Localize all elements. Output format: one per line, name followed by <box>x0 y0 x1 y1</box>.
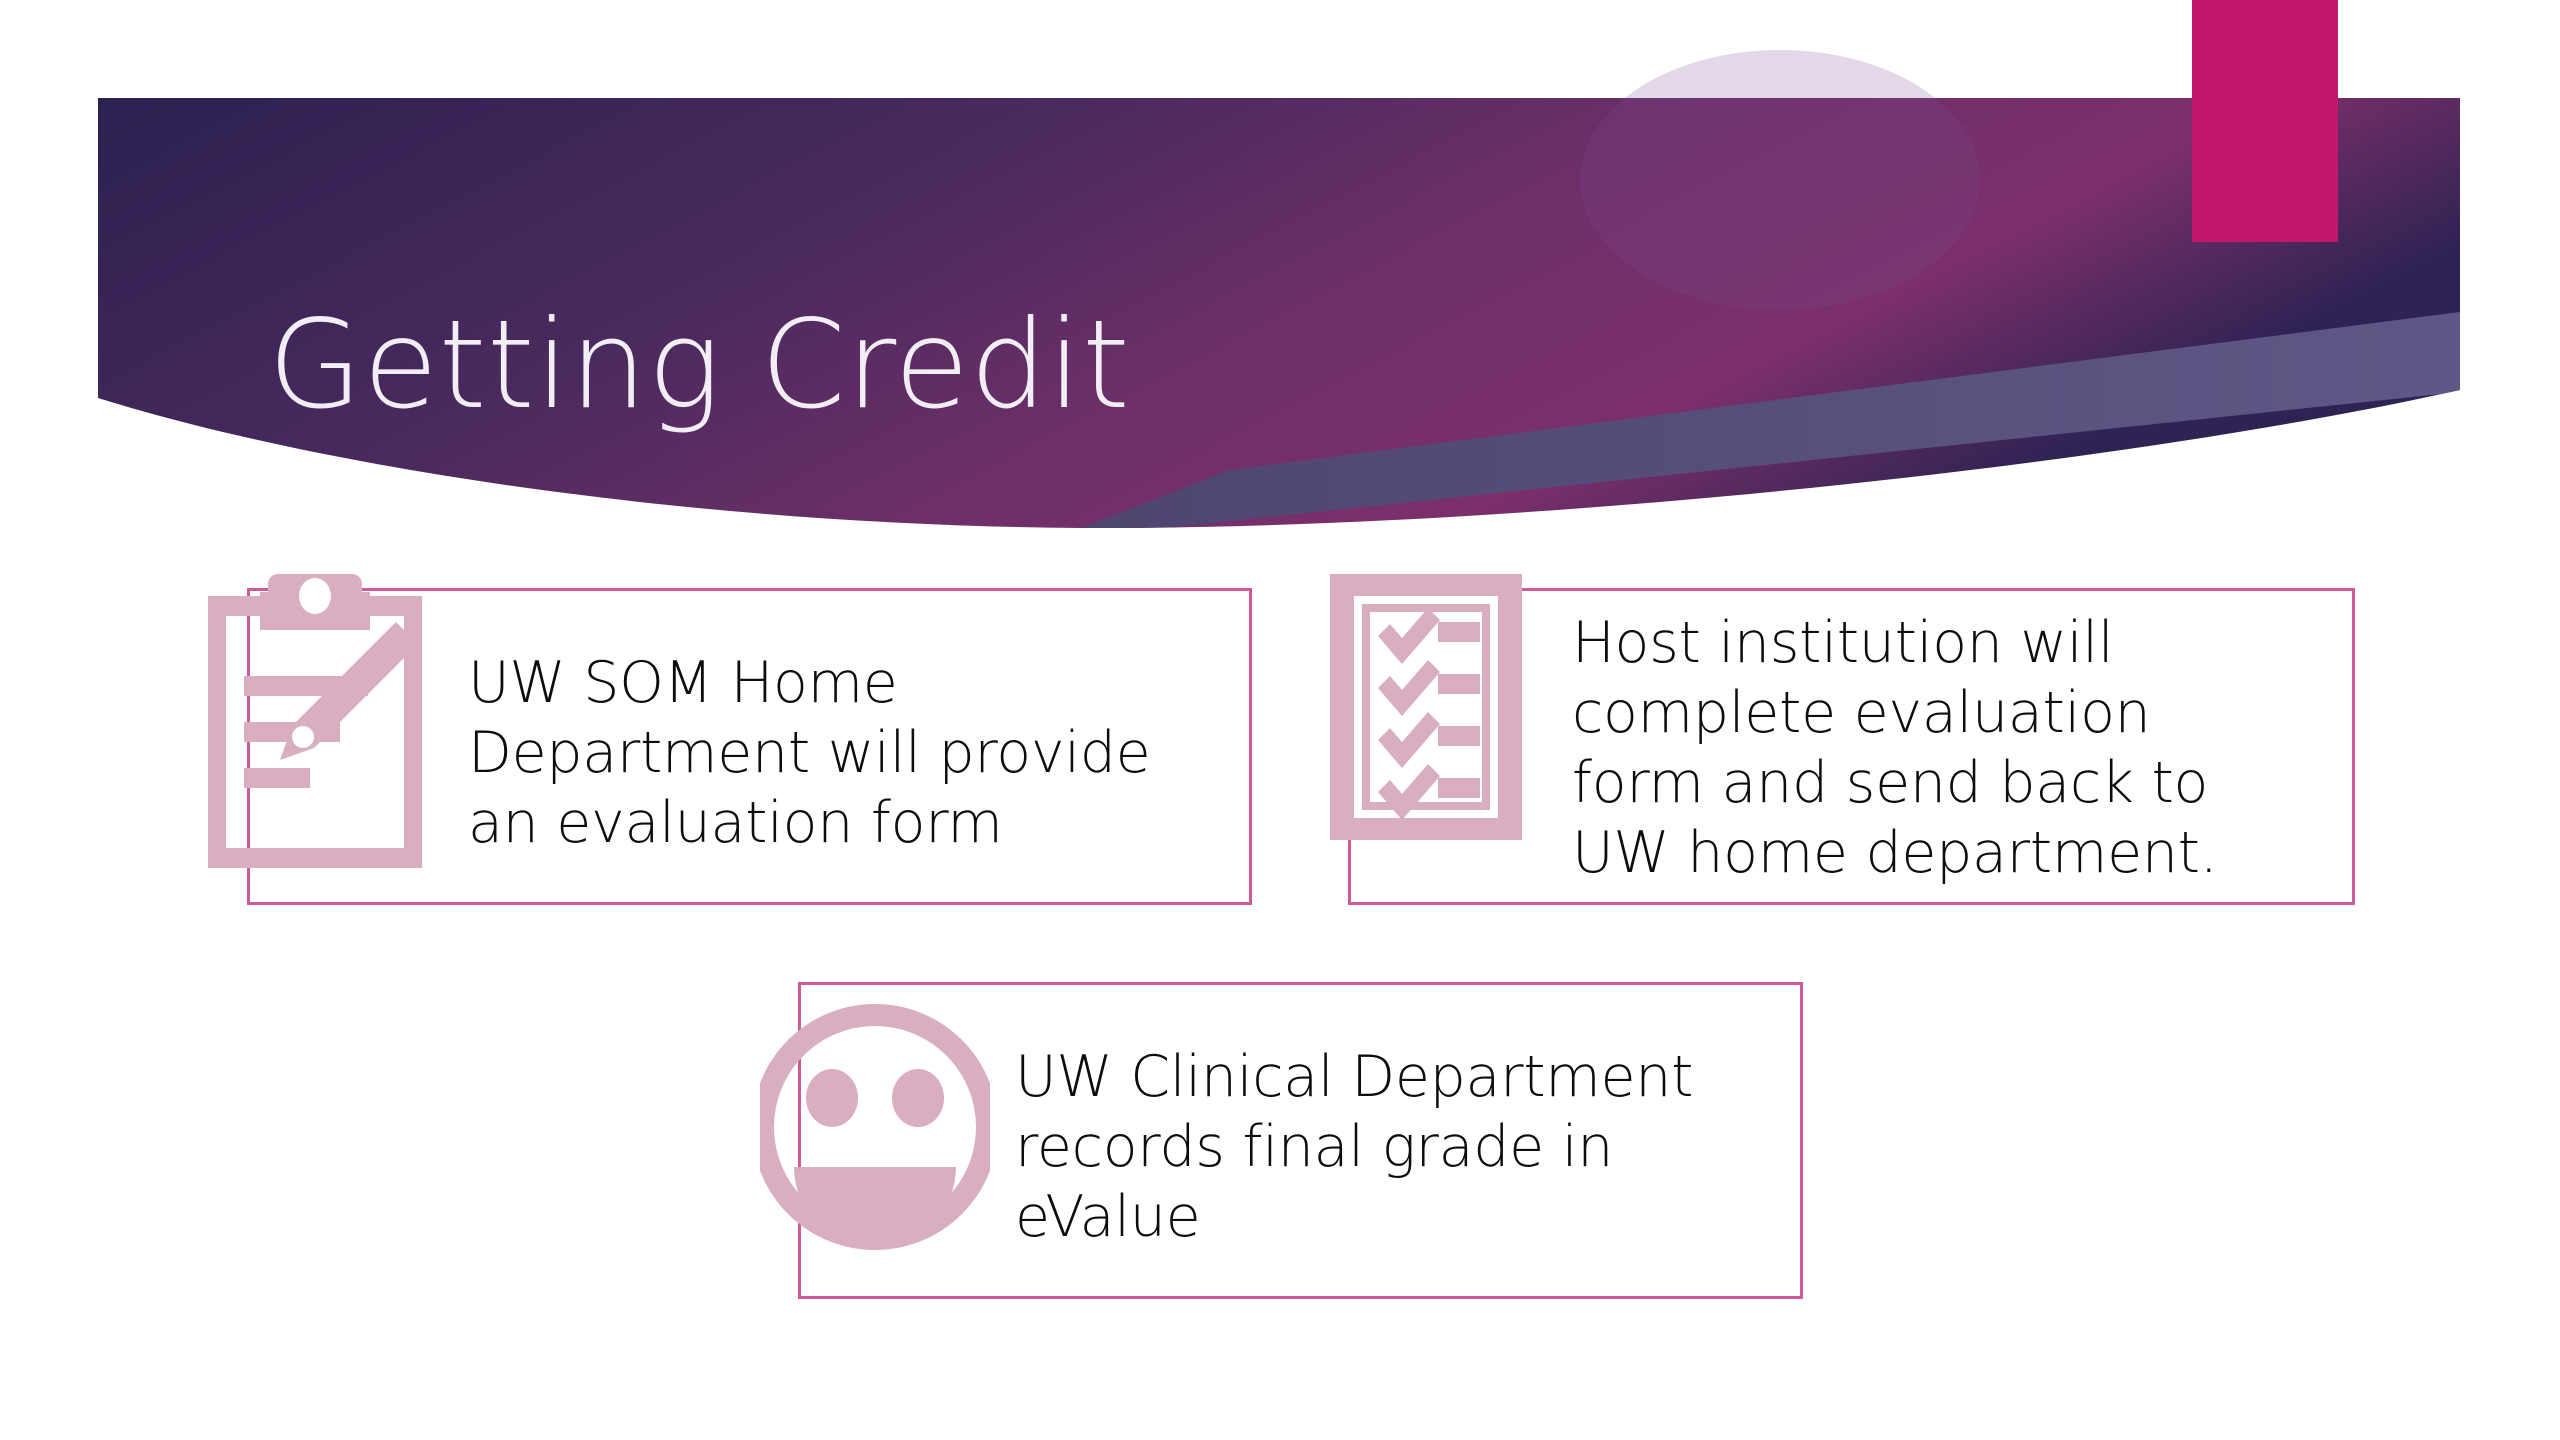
content-box-2-text: Host institution will complete evaluatio… <box>1572 608 2312 888</box>
slide: Getting Credit UW SOM Home Department wi… <box>0 0 2560 1440</box>
page-title: Getting Credit <box>268 300 1130 432</box>
header-banner <box>0 0 2560 560</box>
checklist-icon <box>1326 570 1546 875</box>
banner-wedge <box>1050 312 2460 540</box>
accent-rect-icon <box>2192 0 2338 242</box>
smiley-face-icon <box>760 975 990 1280</box>
banner-shape <box>0 0 2560 560</box>
content-box-3-text: UW Clinical Department records final gra… <box>1015 1042 1775 1252</box>
content-box-1-text: UW SOM Home Department will provide an e… <box>468 648 1228 858</box>
clipboard-pen-icon <box>200 572 430 877</box>
banner-highlight <box>1580 50 1980 310</box>
